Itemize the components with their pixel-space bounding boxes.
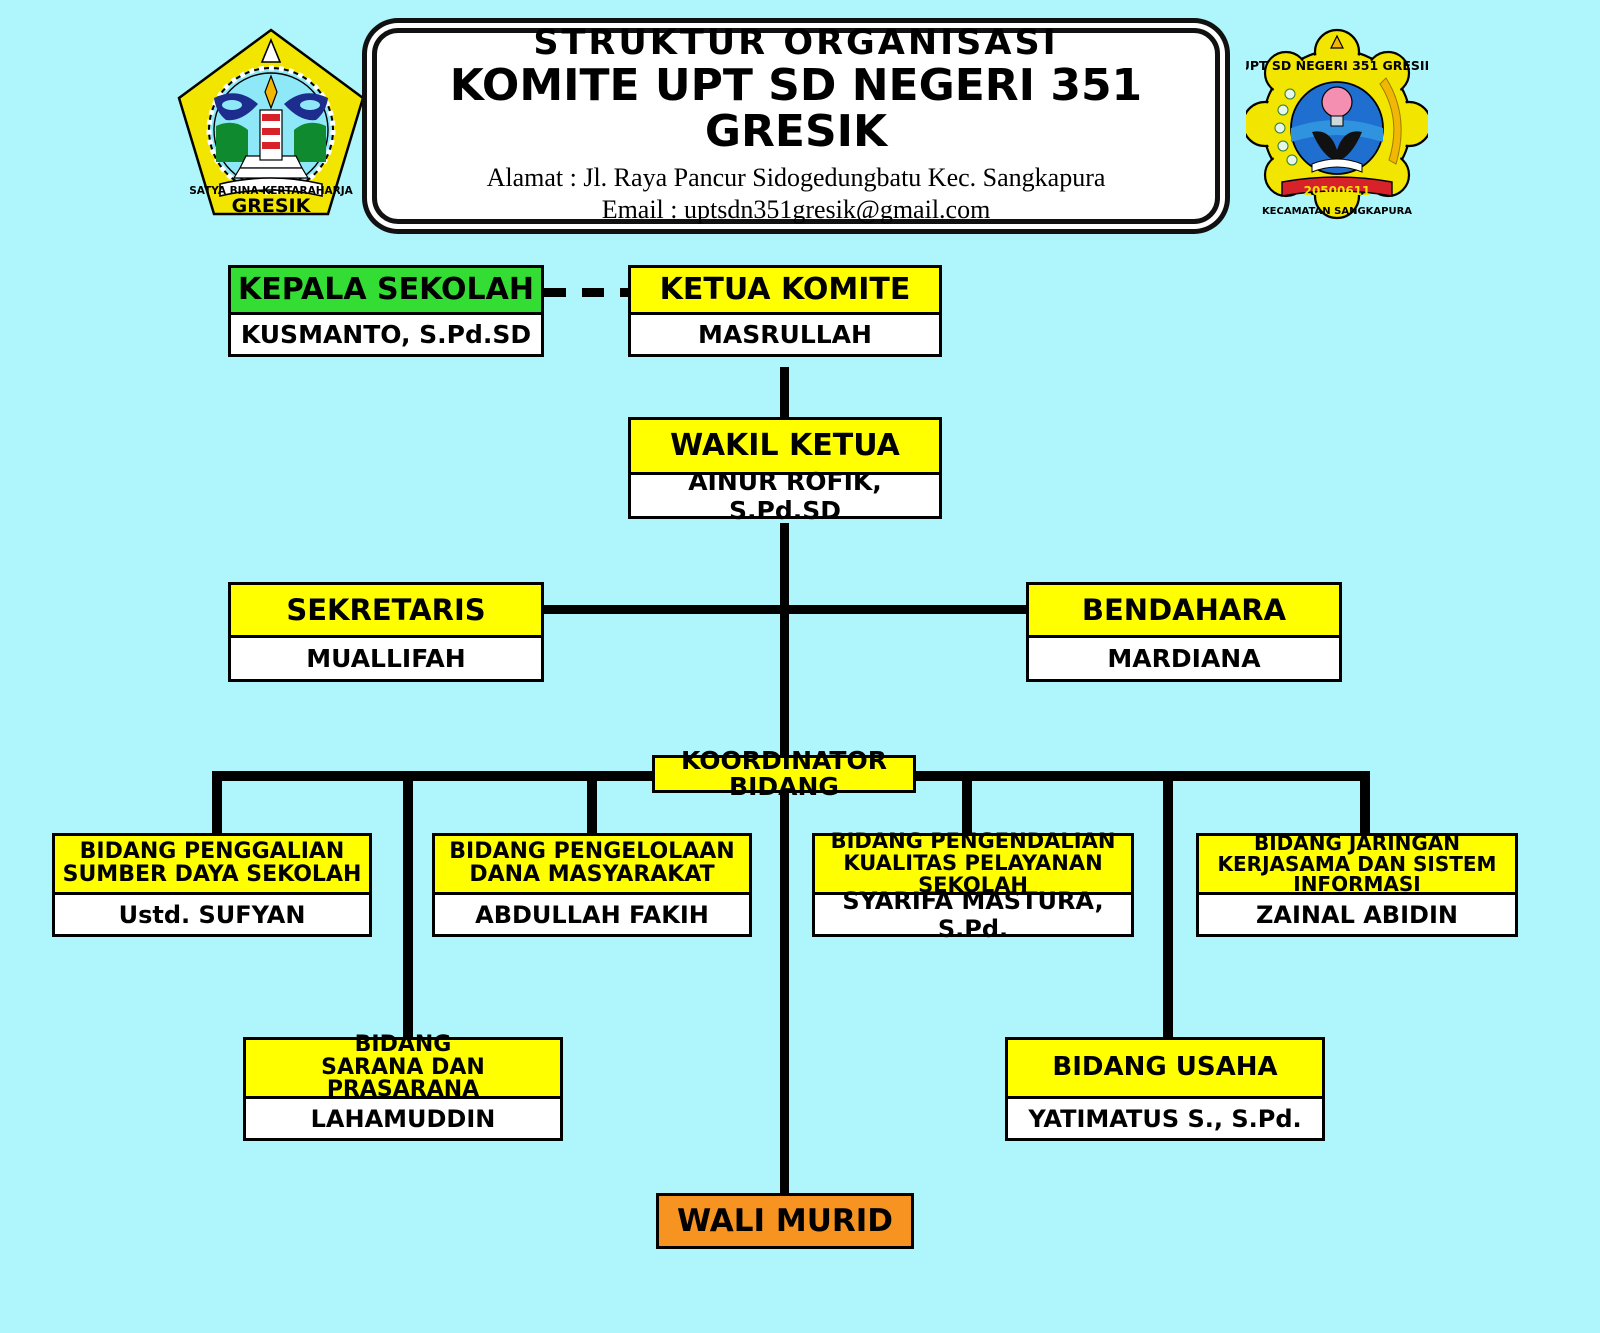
node-wakil-ketua[interactable]: WAKIL KETUA AINUR ROFIK, S.Pd.SD [628,417,942,519]
node-bidang-pengelolaan[interactable]: BIDANG PENGELOLAAN DANA MASYARAKAT ABDUL… [432,833,752,937]
bidang-jaringan-title-line1: BIDANG JARINGAN [1254,833,1460,854]
connector-drop-jaringan [1360,771,1370,833]
bidang-sarana-title-line2: SARANA DAN PRASARANA [252,1057,554,1103]
connector-drop-pengelolaan [587,771,597,833]
bidang-sarana-title: BIDANG SARANA DAN PRASARANA [243,1037,563,1099]
bidang-pengelolaan-name: ABDULLAH FAKIH [432,895,752,937]
bidang-penggalian-title-line2: SUMBER DAYA SEKOLAH [63,864,362,887]
header-plaque: STRUKTUR ORGANISASI KOMITE UPT SD NEGERI… [372,28,1220,224]
header-title-line2: KOMITE UPT SD NEGERI 351 GRESIK [377,63,1215,155]
connector-koordinator-to-wali-murid [780,781,789,1193]
bidang-usaha-name: YATIMATUS S., S.Pd. [1005,1099,1325,1141]
school-logo-district: KECAMATAN SANGKAPURA [1262,206,1412,217]
connector-sekretaris-bendahara [540,605,1032,614]
sekretaris-title: SEKRETARIS [228,582,544,638]
gresik-logo-region: GRESIK [232,195,312,217]
bidang-jaringan-name: ZAINAL ABIDIN [1196,895,1518,937]
node-bendahara[interactable]: BENDAHARA MARDIANA [1026,582,1342,682]
org-chart-canvas: SATYA BINA KERTARAHARJA GRESIK UPT SD NE… [0,0,1600,1333]
bidang-penggalian-name: Ustd. SUFYAN [52,895,372,937]
node-bidang-penggalian[interactable]: BIDANG PENGGALIAN SUMBER DAYA SEKOLAH Us… [52,833,372,937]
koordinator-bidang-title: KOORDINATOR BIDANG [652,755,916,793]
node-sekretaris[interactable]: SEKRETARIS MUALLIFAH [228,582,544,682]
school-logo: UPT SD NEGERI 351 GRESIK 20500611 KECAMA… [1246,24,1428,220]
connector-ketua-to-wakil [780,367,789,419]
connector-drop-sarana [403,771,413,1037]
bidang-sarana-name: LAHAMUDDIN [243,1099,563,1141]
gresik-regency-logo: SATYA BINA KERTARAHARJA GRESIK [176,26,366,222]
connector-wakil-to-koordinator [780,523,789,763]
wali-murid-title: WALI MURID [656,1193,914,1249]
bidang-pengendalian-title-line1: BIDANG PENGENDALIAN [831,831,1116,853]
bidang-pengendalian-name: SYARIFA MASTURA, S.Pd. [812,895,1134,937]
node-koordinator-bidang[interactable]: KOORDINATOR BIDANG [652,755,916,793]
school-logo-curved-text: UPT SD NEGERI 351 GRESIK [1246,58,1428,73]
bendahara-name: MARDIANA [1026,638,1342,682]
node-kepala-sekolah[interactable]: KEPALA SEKOLAH KUSMANTO, S.Pd.SD [228,265,544,357]
node-bidang-sarana[interactable]: BIDANG SARANA DAN PRASARANA LAHAMUDDIN [243,1037,563,1141]
bidang-usaha-title: BIDANG USAHA [1005,1037,1325,1099]
node-wali-murid[interactable]: WALI MURID [656,1193,914,1249]
header-email: Email : uptsdn351gresik@gmail.com [377,194,1215,227]
bidang-pengelolaan-title-line2: DANA MASYARAKAT [469,864,714,887]
bidang-penggalian-title-line1: BIDANG PENGGALIAN [80,841,345,864]
connector-dashed-kepala-ketua [544,288,630,297]
bidang-penggalian-title: BIDANG PENGGALIAN SUMBER DAYA SEKOLAH [52,833,372,895]
connector-drop-pengendalian [962,771,972,833]
node-bidang-pengendalian[interactable]: BIDANG PENGENDALIAN KUALITAS PELAYANAN S… [812,833,1134,937]
header-title-line1: STRUKTUR ORGANISASI [377,25,1215,62]
kepala-sekolah-name: KUSMANTO, S.Pd.SD [228,315,544,357]
kepala-sekolah-title: KEPALA SEKOLAH [228,265,544,315]
bidang-pengelolaan-title-line1: BIDANG PENGELOLAAN [449,841,734,864]
bidang-jaringan-title-line2: KERJASAMA DAN SISTEM INFORMASI [1205,854,1509,896]
school-logo-npsn: 20500611 [1304,184,1371,198]
bendahara-title: BENDAHARA [1026,582,1342,638]
ketua-komite-title: KETUA KOMITE [628,265,942,315]
connector-drop-penggalian [212,771,222,833]
node-bidang-jaringan[interactable]: BIDANG JARINGAN KERJASAMA DAN SISTEM INF… [1196,833,1518,937]
header-address: Alamat : Jl. Raya Pancur Sidogedungbatu … [377,162,1215,195]
bidang-sarana-title-line1: BIDANG [355,1034,452,1057]
sekretaris-name: MUALLIFAH [228,638,544,682]
wakil-ketua-name: AINUR ROFIK, S.Pd.SD [628,475,942,519]
bidang-jaringan-title: BIDANG JARINGAN KERJASAMA DAN SISTEM INF… [1196,833,1518,895]
bidang-pengelolaan-title: BIDANG PENGELOLAAN DANA MASYARAKAT [432,833,752,895]
connector-drop-usaha [1163,771,1173,1037]
ketua-komite-name: MASRULLAH [628,315,942,357]
node-ketua-komite[interactable]: KETUA KOMITE MASRULLAH [628,265,942,357]
node-bidang-usaha[interactable]: BIDANG USAHA YATIMATUS S., S.Pd. [1005,1037,1325,1141]
